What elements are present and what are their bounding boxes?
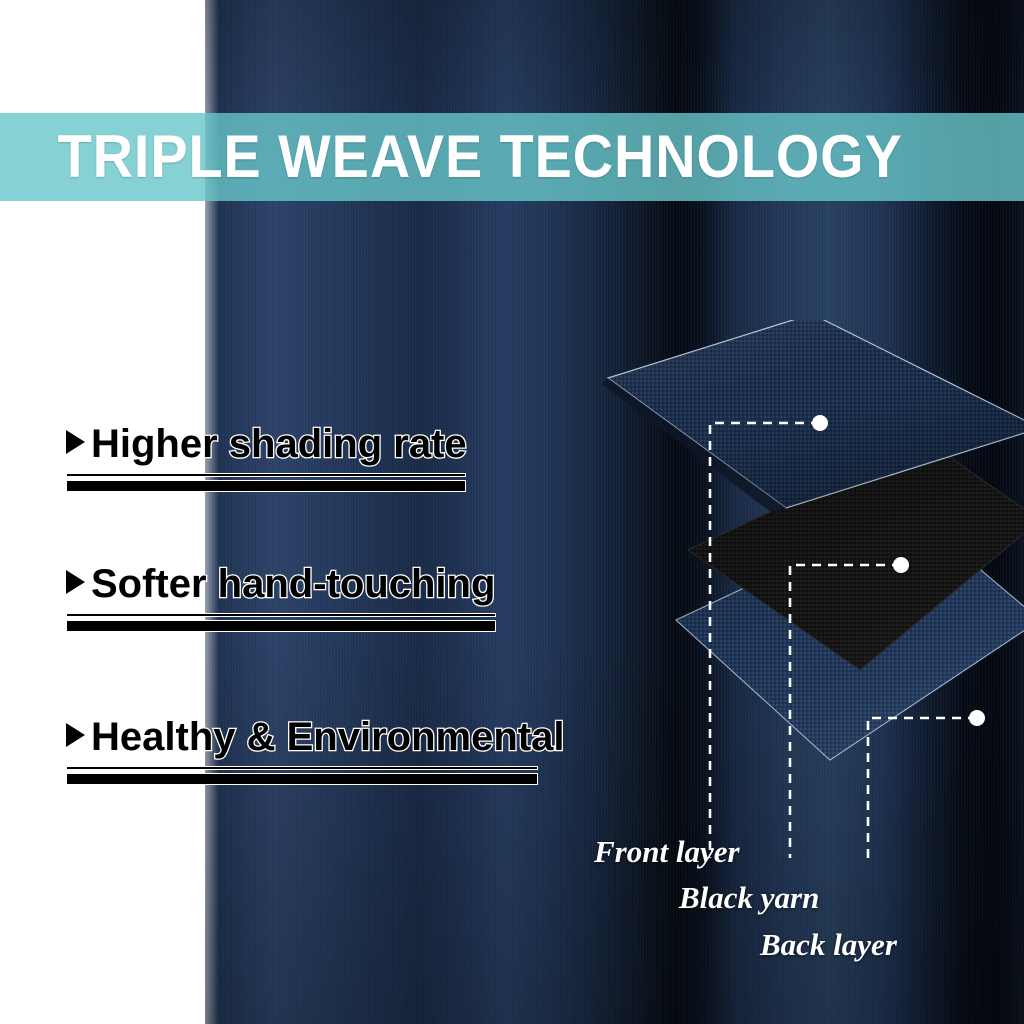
callout-back-layer-line <box>868 718 977 858</box>
feature-underline <box>66 613 496 632</box>
callout-label-back-layer: Back layer <box>760 929 897 960</box>
feature-item-softer-hand-touching: Softer hand-touching <box>66 564 496 632</box>
underline-thick-bar <box>66 620 496 632</box>
underline-thin-bar <box>66 473 466 477</box>
feature-label: Higher shading rate <box>91 424 467 464</box>
callout-label-black-yarn: Black yarn <box>679 882 819 913</box>
feature-underline <box>66 473 466 492</box>
page-title: TRIPLE WEAVE TECHNOLOGY <box>0 113 952 201</box>
callout-black-yarn-dot <box>893 557 909 573</box>
fabric-layer-diagram-svg <box>580 320 1024 860</box>
feature-label: Healthy & Environmental <box>91 717 564 757</box>
feature-text-row: Healthy & Environmental <box>66 717 538 757</box>
feature-text-row: Higher shading rate <box>66 424 466 464</box>
fabric-layer-diagram <box>580 320 1024 860</box>
product-infographic: TRIPLE WEAVE TECHNOLOGY Higher shading r… <box>0 0 1024 1024</box>
feature-label: Softer hand-touching <box>91 564 495 604</box>
triangle-right-icon <box>66 430 85 454</box>
feature-underline <box>66 766 538 785</box>
triangle-right-icon <box>66 723 85 747</box>
triangle-right-icon <box>66 570 85 594</box>
underline-thick-bar <box>66 773 538 785</box>
callout-back-layer <box>868 710 985 858</box>
underline-thin-bar <box>66 613 496 617</box>
underline-thick-bar <box>66 480 466 492</box>
callout-front-layer-dot <box>812 415 828 431</box>
callout-back-layer-dot <box>969 710 985 726</box>
feature-text-row: Softer hand-touching <box>66 564 496 604</box>
feature-item-healthy-environmental: Healthy & Environmental <box>66 717 538 785</box>
callout-label-front-layer: Front layer <box>594 836 740 867</box>
feature-item-higher-shading-rate: Higher shading rate <box>66 424 466 492</box>
underline-thin-bar <box>66 766 538 770</box>
header-banner: TRIPLE WEAVE TECHNOLOGY <box>0 113 1024 201</box>
